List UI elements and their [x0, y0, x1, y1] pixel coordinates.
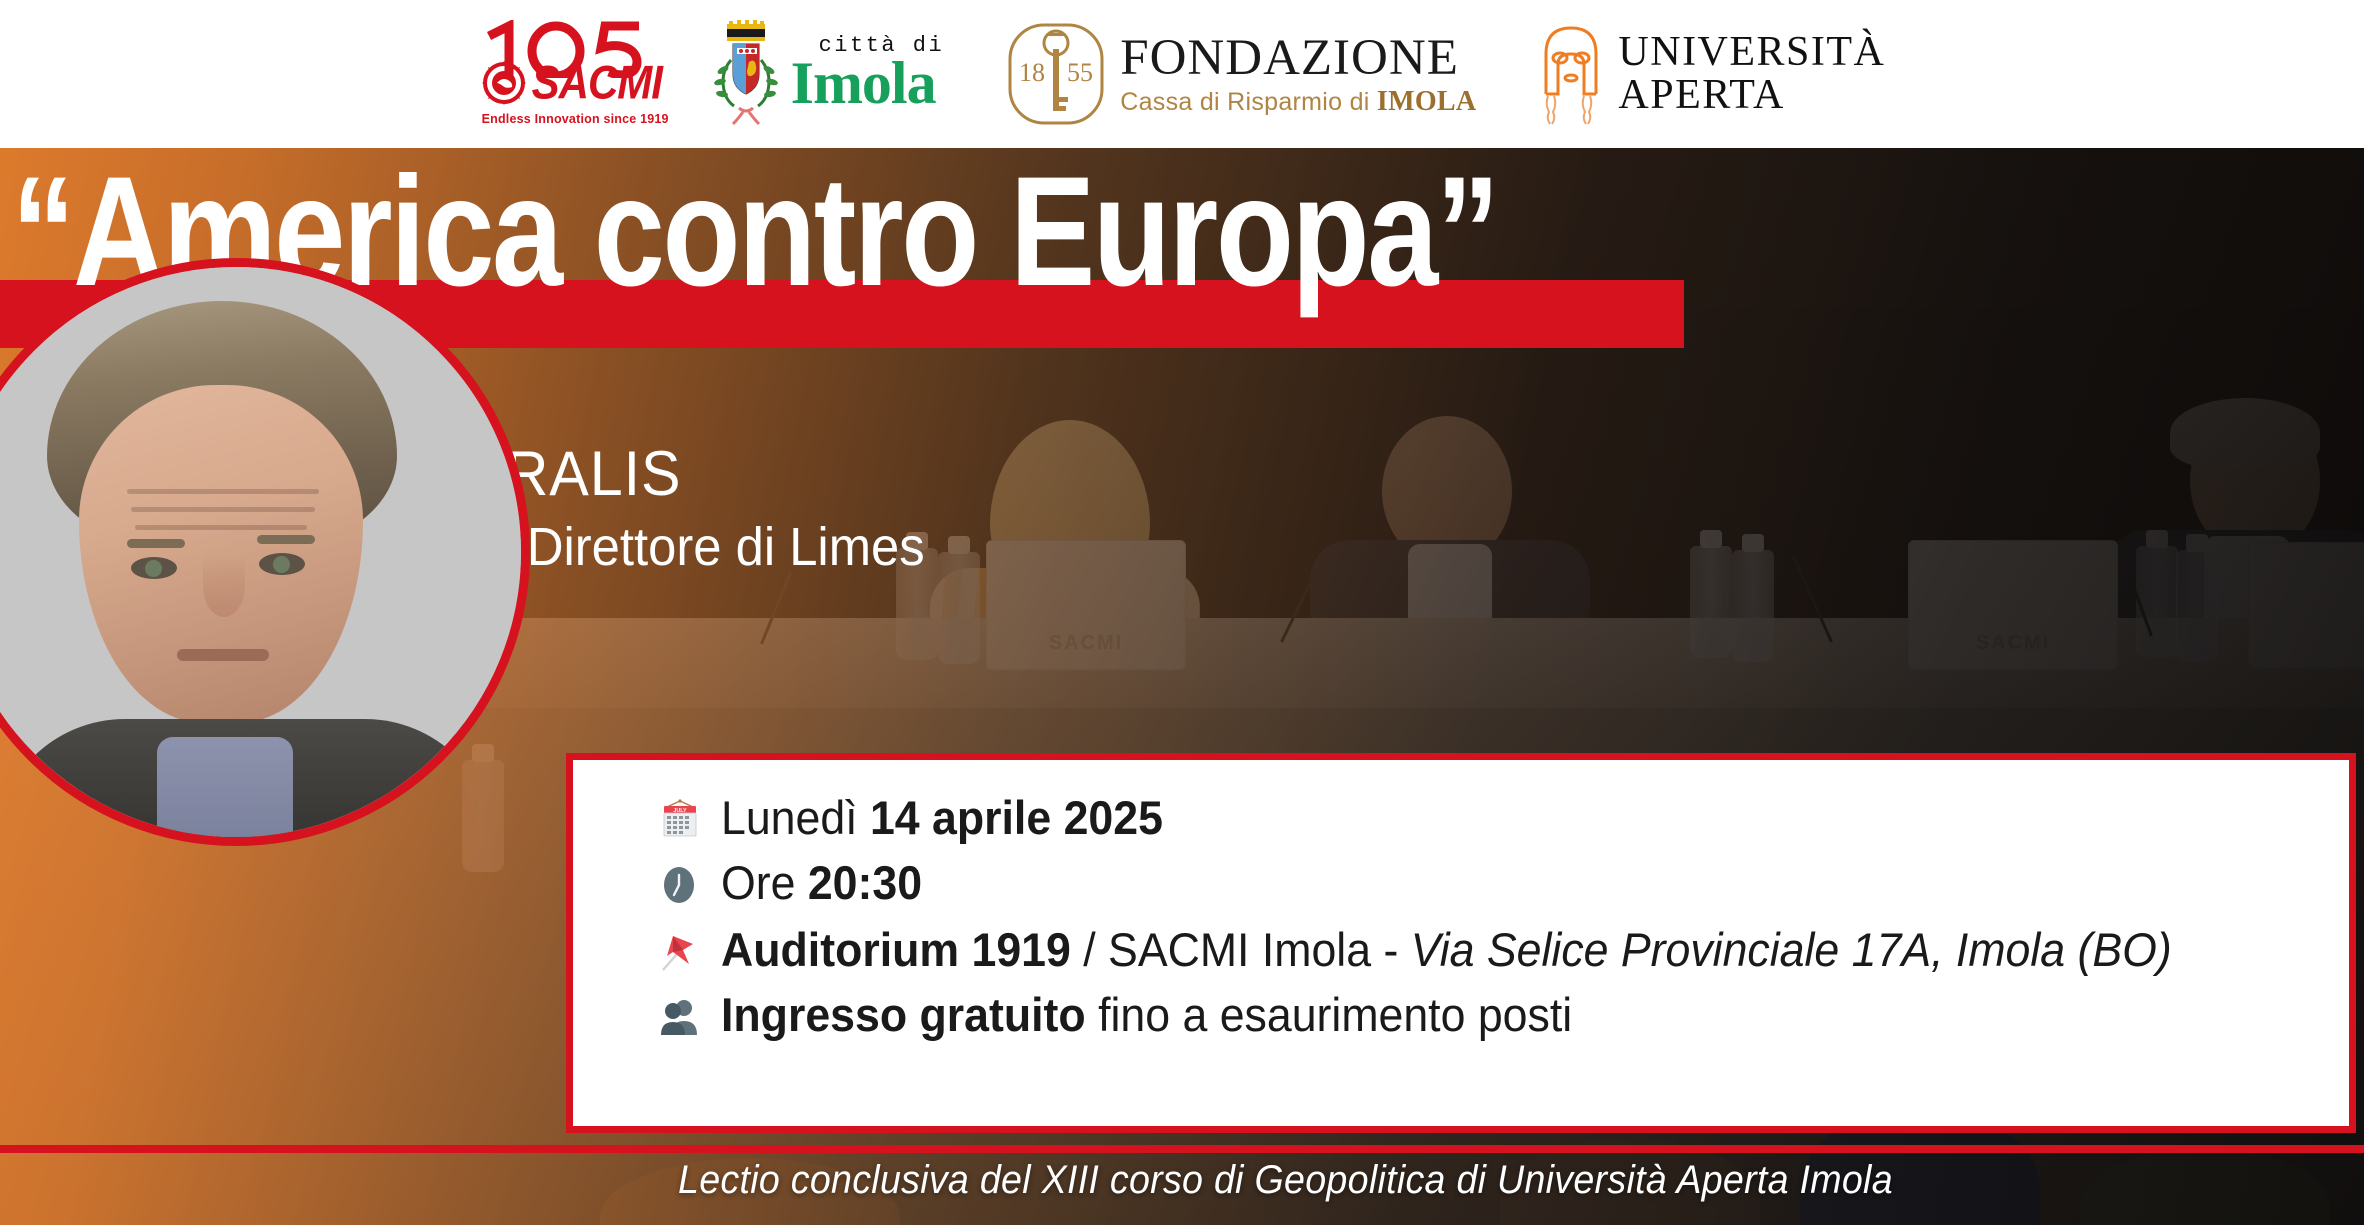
footer-note: Lectio conclusiva del XIII corso di Geop… — [678, 1158, 1893, 1203]
clock-icon — [659, 865, 703, 909]
universita-aperta-line1: UNIVERSITÀ — [1618, 31, 1885, 74]
detail-text-time: Ore 20:30 — [721, 859, 922, 908]
event-details-box: JULY Lunedì 14 aprile 2025 — [566, 753, 2356, 1133]
universita-aperta-line2: APERTA — [1618, 74, 1885, 117]
logo-universita-aperta: UNIVERSITÀ APERTA — [1538, 22, 1885, 126]
logo-sacmi: SACMI Endless Innovation since 1919 — [479, 18, 647, 130]
detail-row-time: Ore 20:30 — [659, 859, 2349, 908]
logo-fondazione-cassa-di-risparmio: 18 55 FONDAZIONE Cassa di Risparmio di I… — [1006, 19, 1476, 129]
event-poster: SACMI Endless Innovation since 1919 — [0, 0, 2364, 1225]
calendar-icon: JULY — [659, 798, 703, 842]
sacmi-tagline: Endless Innovation since 1919 — [482, 112, 669, 126]
detail-text-date: Lunedì 14 aprile 2025 — [721, 794, 1163, 843]
detail-text-place: Auditorium 1919 / SACMI Imola - Via Seli… — [721, 926, 2172, 975]
svg-text:55: 55 — [1067, 58, 1093, 87]
svg-text:18: 18 — [1019, 58, 1045, 87]
detail-row-date: JULY Lunedì 14 aprile 2025 — [659, 792, 2349, 843]
detail-row-place: Auditorium 1919 / SACMI Imola - Via Seli… — [659, 924, 2349, 975]
sponsor-logo-bar: SACMI Endless Innovation since 1919 — [0, 0, 2364, 148]
sacmi-gear-lion-icon — [481, 60, 527, 106]
imola-wordmark: Imola — [791, 53, 945, 113]
logo-citta-di-imola: città di Imola — [709, 20, 945, 128]
pushpin-icon — [659, 930, 703, 974]
fondazione-subline: Cassa di Risparmio di IMOLA — [1120, 88, 1476, 116]
fondazione-key-1855-icon: 18 55 — [1006, 19, 1106, 129]
fondazione-wordmark: FONDAZIONE — [1120, 33, 1476, 84]
detail-row-entry: Ingresso gratuito fino a esaurimento pos… — [659, 991, 2349, 1040]
footer-divider — [0, 1145, 2364, 1153]
detail-text-entry: Ingresso gratuito fino a esaurimento pos… — [721, 991, 1572, 1040]
sacmi-wordmark: SACMI — [532, 59, 662, 106]
speaker-portrait — [0, 258, 530, 846]
universita-aperta-mask-icon — [1538, 22, 1604, 126]
imola-coat-of-arms-icon — [709, 20, 783, 128]
busts-in-silhouette-icon — [659, 997, 703, 1041]
